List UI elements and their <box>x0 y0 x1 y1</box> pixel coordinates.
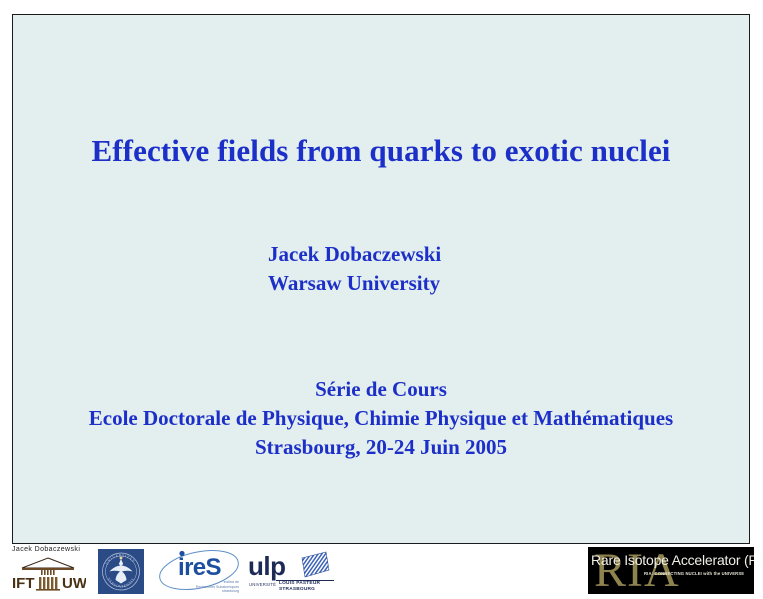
ift-letters: IFT <box>12 575 35 591</box>
title-slide: Effective fields from quarks to exotic n… <box>12 14 750 544</box>
ulp-tagline-universite: UNIVERSITÉ <box>249 582 276 587</box>
ift-uw-caption: Jacek Dobaczewski <box>12 546 80 553</box>
ulp-tagline-name: LOUIS PASTEUR <box>279 581 320 586</box>
venue-series: Série de Cours <box>13 375 749 404</box>
warsaw-university-seal: UNIVERSITAS VARSOVIENSIS <box>98 549 144 594</box>
ires-sub-line3: strasbourg <box>193 589 239 594</box>
ulp-wordmark: ulp <box>248 551 286 582</box>
presentation-title-slide-page: Effective fields from quarks to exotic n… <box>0 0 763 597</box>
ires-subtitle: institut de Recherches Subatomiques stra… <box>193 580 239 594</box>
ift-uw-logo: Jacek Dobaczewski <box>10 546 88 594</box>
sponsor-logo-strip: Jacek Dobaczewski <box>0 546 763 597</box>
venue-location-date: Strasbourg, 20-24 Juin 2005 <box>13 433 749 462</box>
eagle-seal-icon: UNIVERSITAS VARSOVIENSIS <box>98 549 144 594</box>
ulp-logo: ulp UNIVERSITÉ LOUIS PASTEUR STRASBOURG <box>248 549 336 595</box>
ria-tagline: RIA: CONNECTING NUCLEI with the UNIVERSE <box>644 571 744 576</box>
venue-block: Série de Cours Ecole Doctorale de Physiq… <box>13 375 749 462</box>
author-name: Jacek Dobaczewski <box>268 240 441 269</box>
venue-school: Ecole Doctorale de Physique, Chimie Phys… <box>13 404 749 433</box>
classical-building-icon: IFT UW <box>10 557 86 591</box>
ria-logo: RIA Rare Isotope Accelerator (RIA) RIA: … <box>588 547 754 594</box>
ulp-tagline-city: STRASBOURG <box>279 587 315 592</box>
author-affiliation: Warsaw University <box>268 269 441 298</box>
ires-wordmark: ireS <box>178 554 221 582</box>
author-block: Jacek Dobaczewski Warsaw University <box>268 240 441 298</box>
slide-title: Effective fields from quarks to exotic n… <box>13 133 749 169</box>
ria-title: Rare Isotope Accelerator (RIA) <box>591 552 754 568</box>
uw-letters: UW <box>62 575 86 591</box>
ires-logo: ireS institut de Recherches Subatomiques… <box>155 548 240 595</box>
striped-square-icon <box>298 550 332 580</box>
